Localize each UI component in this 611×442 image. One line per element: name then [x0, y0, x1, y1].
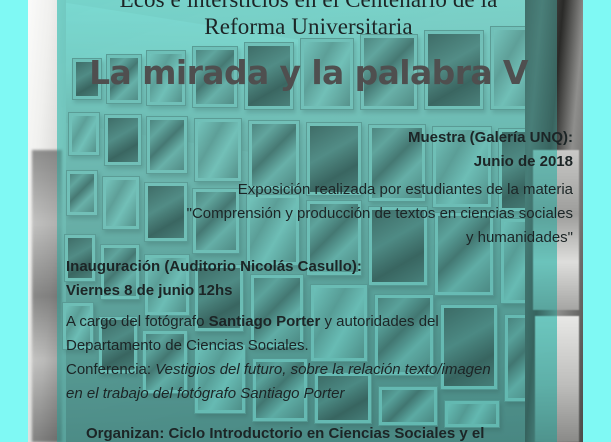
headline-serif-line-2: Reforma Universitaria	[66, 13, 551, 40]
inauguracion-block: Inauguración (Auditorio Nicolás Casullo)…	[66, 255, 566, 303]
conferencia-title-part-1: Vestigios del futuro, sobre la relación …	[155, 361, 490, 378]
page-title: La mirada y la palabra V	[66, 54, 551, 92]
conferencia-line-1: Conferencia: Vestigios del futuro, sobre…	[66, 358, 566, 382]
poster-text-content: Ecos e intersticios en el Centenario de …	[0, 0, 611, 442]
conferencia-line-2: en el trabajo del fotógrafo Santiago Por…	[66, 382, 566, 406]
muestra-block: Muestra (Galería UNQ): Junio de 2018	[73, 126, 573, 174]
a-cargo-prefix: A cargo del fotógrafo	[66, 313, 209, 330]
exposicion-line-3: y humanidades"	[73, 226, 573, 250]
conferencia-title-part-2: en el trabajo del fotógrafo Santiago Por…	[66, 385, 345, 402]
muestra-line-1: Muestra (Galería UNQ):	[73, 126, 573, 150]
muestra-line-2: Junio de 2018	[73, 150, 573, 174]
exposicion-block: Exposición realizada por estudiantes de …	[73, 178, 573, 250]
inauguracion-line-1: Inauguración (Auditorio Nicolás Casullo)…	[66, 255, 566, 279]
departamento-line: Departamento de Ciencias Sociales.	[66, 334, 566, 358]
organizan-line-1: Organizan: Ciclo Introductorio en Cienci…	[86, 422, 586, 442]
exposicion-line-2: "Comprensión y producción de textos en c…	[73, 202, 573, 226]
photographer-name: Santiago Porter	[209, 313, 321, 330]
conferencia-label: Conferencia:	[66, 361, 155, 378]
organizan-block: Organizan: Ciclo Introductorio en Cienci…	[86, 422, 586, 442]
exposicion-line-1: Exposición realizada por estudiantes de …	[73, 178, 573, 202]
a-cargo-line: A cargo del fotógrafo Santiago Porter y …	[66, 310, 566, 334]
headline-serif-line-1: Ecos e intersticios en el Centenario de …	[66, 0, 551, 13]
inauguracion-line-2: Viernes 8 de junio 12hs	[66, 279, 566, 303]
body-text-block: A cargo del fotógrafo Santiago Porter y …	[66, 310, 566, 406]
a-cargo-suffix: y autoridades del	[320, 313, 438, 330]
poster-canvas: Ecos e intersticios en el Centenario de …	[0, 0, 611, 442]
